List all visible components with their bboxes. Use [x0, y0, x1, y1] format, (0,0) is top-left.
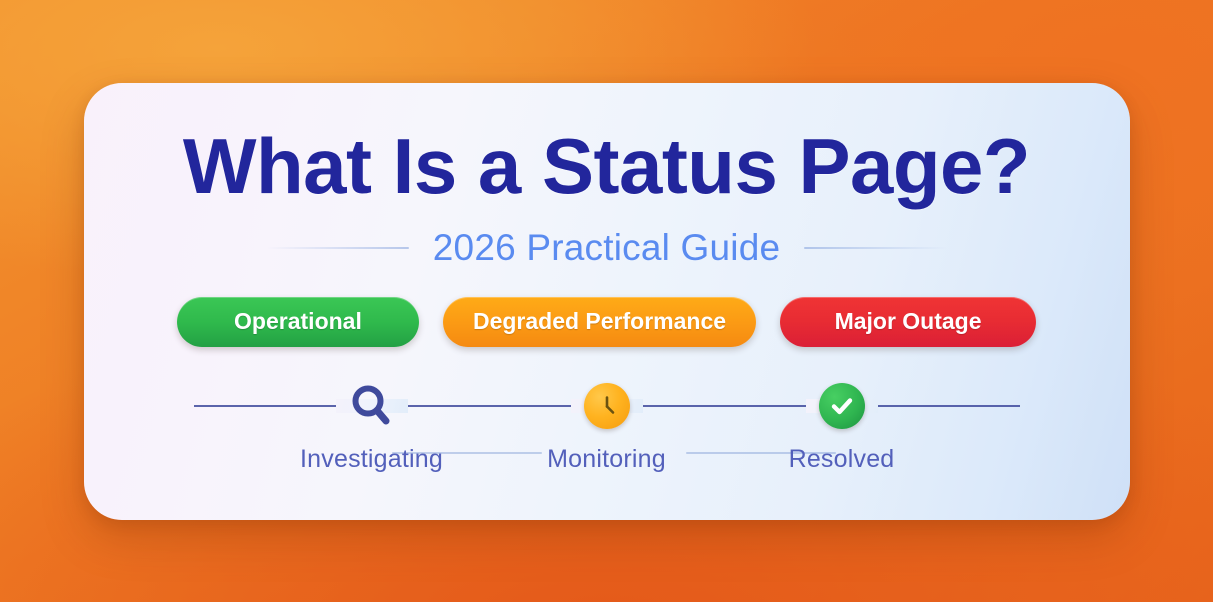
- subtitle-row: 2026 Practical Guide: [267, 227, 947, 269]
- status-badge-degraded-performance[interactable]: Degraded Performance: [443, 297, 756, 347]
- timeline-label-resolved: Resolved: [789, 445, 895, 474]
- incident-timeline: Investigating Monitoring: [194, 375, 1020, 485]
- timeline-label-monitoring: Monitoring: [547, 445, 666, 474]
- timeline-stage-resolved[interactable]: Resolved: [742, 375, 942, 474]
- status-badge-operational[interactable]: Operational: [177, 297, 419, 347]
- subtitle-rule-right: [804, 247, 946, 249]
- timeline-stage-investigating[interactable]: Investigating: [272, 375, 472, 474]
- status-badge-group: Operational Degraded Performance Major O…: [177, 297, 1036, 347]
- status-badge-major-outage[interactable]: Major Outage: [780, 297, 1036, 347]
- clock-icon: [576, 375, 638, 437]
- timeline-label-investigating: Investigating: [300, 445, 443, 474]
- timeline-stage-monitoring[interactable]: Monitoring: [507, 375, 707, 474]
- subtitle-rule-left: [267, 247, 409, 249]
- page-title: What Is a Status Page?: [183, 127, 1030, 205]
- check-circle-icon: [811, 375, 873, 437]
- magnifier-icon: [341, 375, 403, 437]
- page-subtitle: 2026 Practical Guide: [433, 227, 780, 269]
- infographic-card: What Is a Status Page? 2026 Practical Gu…: [84, 83, 1130, 520]
